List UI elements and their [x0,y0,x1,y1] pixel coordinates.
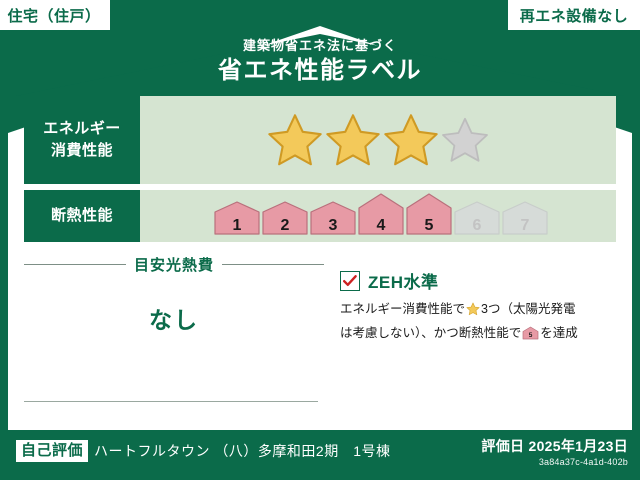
star-icon [383,112,439,168]
insulation-grade-scale: 1234567 [208,193,548,240]
insulation-grade-number: 2 [262,217,308,235]
zeh-desc-part1: エネルギー消費性能で [340,302,465,316]
insulation-grade-4: 4 [358,193,404,240]
zeh-checkbox[interactable] [340,271,360,291]
insulation-grade-number: 3 [310,217,356,235]
insulation-grade-6: 6 [454,201,500,240]
zeh-desc-part3: を達成 [540,326,578,340]
insulation-performance-label-text: 断熱性能 [51,205,113,227]
insulation-grade-2: 2 [262,201,308,240]
utility-cost-header: 目安光熱費 [24,254,324,275]
label-content: エネルギー 消費性能 断熱性能 1234567 目安光熱費 [24,96,616,422]
insulation-grade-number: 5 [406,217,452,235]
cost-rule-right [222,264,324,265]
energy-performance-row: エネルギー 消費性能 [24,96,616,184]
utility-cost-value: なし [24,301,324,335]
insulation-grade-3: 3 [310,201,356,240]
cost-rule-left [24,264,126,265]
zeh-header: ZEH水準 [340,268,616,293]
insulation-grade-5: 5 [406,193,452,240]
roof-fill [16,34,624,96]
insulation-grade-number: 6 [454,217,500,235]
energy-performance-label: エネルギー 消費性能 [24,96,140,184]
evaluation-id: 3a84a37c-4a1d-402b [481,457,628,467]
cost-bottom-divider [24,401,318,402]
energy-performance-value [140,96,616,184]
star-icon-inline [466,302,480,323]
housing-type-badge: 住宅（住戸） [0,0,110,30]
building-name: ハートフルタウン （八）多摩和田2期 1号棟 [94,441,390,461]
zeh-title: ZEH水準 [368,268,439,293]
star-icon [441,116,489,164]
energy-performance-label-line2: 消費性能 [51,140,113,162]
zeh-section: ZEH水準 エネルギー消費性能で 3つ（太陽光発電 は考慮しない）、かつ断熱性能… [324,250,616,418]
house-icon-inline: 5 [522,326,539,347]
insulation-performance-label: 断熱性能 [24,190,140,242]
insulation-grade-number: 1 [214,217,260,235]
label-footer: 自己評価 ハートフルタウン （八）多摩和田2期 1号棟 評価日 2025年1月2… [0,430,640,480]
insulation-performance-row: 断熱性能 1234567 [24,190,616,242]
insulation-performance-value: 1234567 [140,190,616,242]
utility-cost-section: 目安光熱費 なし [24,250,324,418]
zeh-desc-part2: は考慮しない）、かつ断熱性能で [340,326,521,340]
insulation-grade-number: 4 [358,217,404,235]
insulation-grade-number: 7 [502,217,548,235]
star-icon [325,112,381,168]
zeh-desc-starcount: 3つ（太陽光発電 [481,302,575,316]
utility-cost-title: 目安光熱費 [134,254,214,275]
evaluation-date: 評価日 2025年1月23日 [481,436,628,456]
renewable-equipment-badge: 再エネ設備なし [508,0,640,30]
footer-left-group: 自己評価 ハートフルタウン （八）多摩和田2期 1号棟 [16,440,390,462]
self-evaluation-badge: 自己評価 [16,440,88,462]
footer-right-group: 評価日 2025年1月23日 3a84a37c-4a1d-402b [481,436,628,467]
zeh-description: エネルギー消費性能で 3つ（太陽光発電 は考慮しない）、かつ断熱性能で 5 を達… [340,299,616,346]
label-lower-section: 目安光熱費 なし ZEH水準 エネルギー消費性能で [24,250,616,418]
svg-text:5: 5 [529,331,533,338]
energy-performance-label-line1: エネルギー [43,118,121,140]
insulation-grade-1: 1 [214,201,260,240]
star-rating [267,112,489,168]
check-icon [343,275,357,287]
star-icon [267,112,323,168]
energy-label-root: 住宅（住戸） 再エネ設備なし 建築物省エネ法に基づく 省エネ性能ラベル エネルギ… [0,0,640,480]
insulation-grade-7: 7 [502,201,548,240]
